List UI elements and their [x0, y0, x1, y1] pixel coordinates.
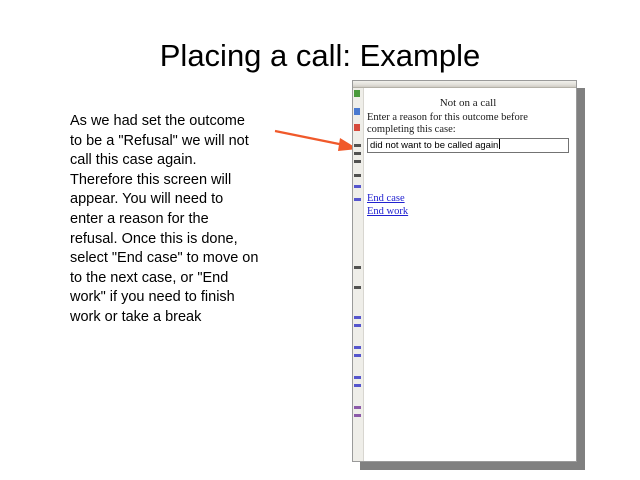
panel-heading: Not on a call — [365, 97, 571, 109]
clipped-link-line — [354, 414, 361, 417]
end-work-link[interactable]: End work — [367, 206, 408, 217]
clipped-text-line — [354, 174, 361, 177]
end-case-link[interactable]: End case — [367, 193, 405, 204]
clipped-link-line — [354, 316, 361, 319]
clipped-link-line — [354, 198, 361, 201]
clipped-link-line — [354, 185, 361, 188]
clipped-link-line — [354, 346, 361, 349]
panel-page-content: Not on a call Enter a reason for this ou… — [365, 89, 577, 462]
panel-instruction-text: Enter a reason for this outcome before c… — [367, 112, 575, 136]
red-arrow-icon — [272, 124, 362, 156]
page-title: Placing a call: Example — [0, 38, 640, 74]
clipped-link-line — [354, 376, 361, 379]
clipped-text-line — [354, 266, 361, 269]
text-caret — [499, 139, 500, 149]
clipped-link-line — [354, 354, 361, 357]
clipped-text-line — [354, 152, 361, 155]
panel-titlebar — [353, 81, 577, 88]
clipped-icon-blue — [354, 108, 360, 115]
clipped-icon-green — [354, 90, 360, 97]
panel-window: Not on a call Enter a reason for this ou… — [352, 80, 577, 462]
clipped-link-line — [354, 324, 361, 327]
embedded-screenshot: Not on a call Enter a reason for this ou… — [352, 80, 577, 462]
clipped-sidebar-gutter — [353, 88, 364, 462]
clipped-text-line — [354, 144, 361, 147]
slide-body-text: As we had set the outcome to be a "Refus… — [70, 112, 260, 328]
reason-input-value: did not want to be called again — [370, 140, 498, 151]
clipped-icon-red — [354, 124, 360, 131]
clipped-text-line — [354, 286, 361, 289]
clipped-link-line — [354, 384, 361, 387]
clipped-text-line — [354, 160, 361, 163]
clipped-link-line — [354, 406, 361, 409]
reason-input[interactable]: did not want to be called again — [367, 138, 569, 153]
